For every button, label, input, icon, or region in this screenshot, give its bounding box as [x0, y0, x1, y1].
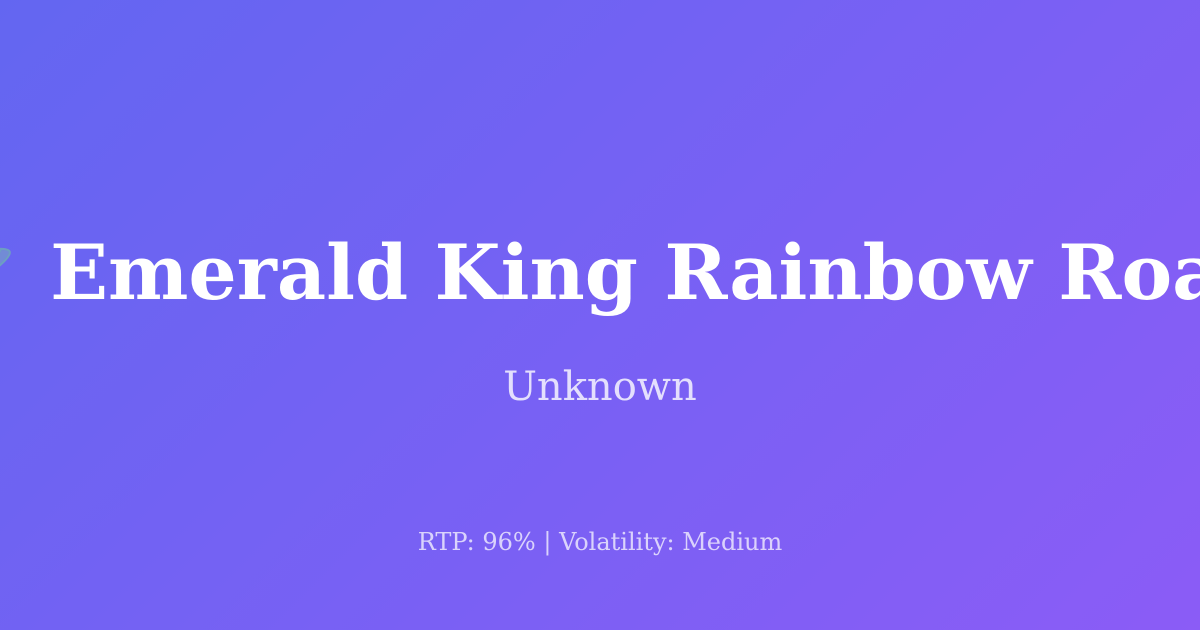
game-stats-line: RTP: 96% | Volatility: Medium [0, 530, 1200, 554]
slot-machine-emoji-icon: 🪰 [0, 235, 20, 311]
provider-subtitle: Unknown [0, 367, 1200, 407]
title-row: 🪰 Emerald King Rainbow Road [0, 235, 1200, 311]
page-title: Emerald King Rainbow Road [50, 235, 1200, 311]
og-share-card: 🪰 Emerald King Rainbow Road Unknown RTP:… [0, 0, 1200, 630]
